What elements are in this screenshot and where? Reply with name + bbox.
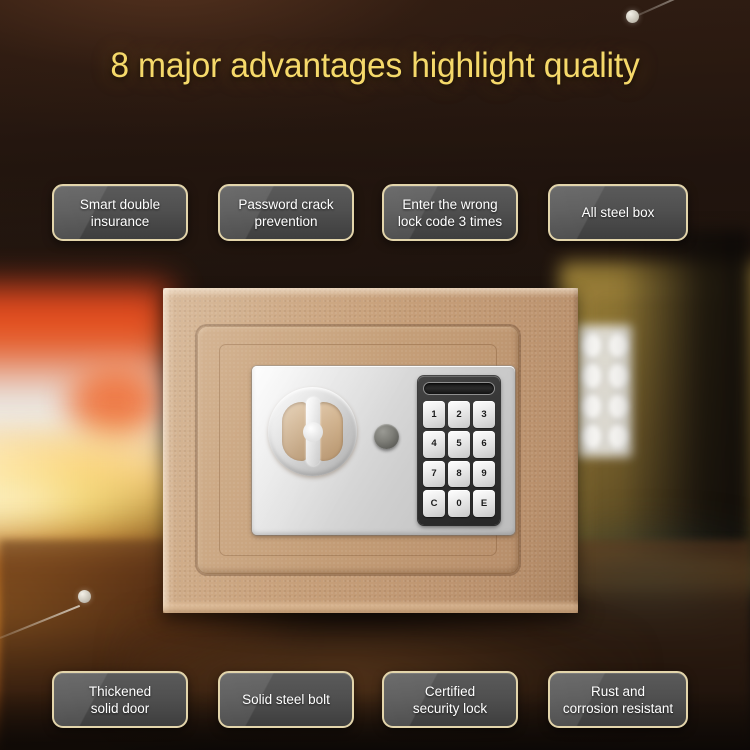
decor-dot-bottom-left: [78, 590, 91, 603]
safe-top-edge-highlight: [163, 288, 578, 297]
keypad-key-enter[interactable]: E: [473, 490, 495, 517]
product-banner: 8 major advantages highlight quality Sma…: [0, 0, 750, 750]
keypad-display-screen: [423, 382, 495, 395]
feature-badge-password-crack-prevention[interactable]: Password crack prevention: [218, 184, 354, 241]
feature-badge-label: Thickened solid door: [89, 683, 151, 717]
feature-badge-rust-corrosion-resistant[interactable]: Rust and corrosion resistant: [548, 671, 688, 728]
safe-bottom-edge: [163, 600, 578, 613]
keypad-key-4[interactable]: 4: [423, 431, 445, 458]
product-safe-box[interactable]: 1 2 3 4 5 6 7 8 9 C 0 E: [163, 288, 578, 613]
door-knob[interactable]: [374, 424, 399, 449]
decor-line-bottom-left: [0, 605, 80, 639]
keypad-key-clear[interactable]: C: [423, 490, 445, 517]
feature-badge-label: Certified security lock: [413, 683, 487, 717]
key-lock-icon[interactable]: [268, 387, 357, 476]
feature-badge-thickened-solid-door[interactable]: Thickened solid door: [52, 671, 188, 728]
safe-door-panel[interactable]: 1 2 3 4 5 6 7 8 9 C 0 E: [197, 326, 519, 574]
safe-left-edge-highlight: [163, 288, 175, 613]
feature-badge-label: All steel box: [582, 204, 655, 221]
feature-badge-all-steel-box[interactable]: All steel box: [548, 184, 688, 241]
lock-center-pin: [303, 422, 323, 442]
keypad-key-grid[interactable]: 1 2 3 4 5 6 7 8 9 C 0 E: [423, 401, 495, 517]
keypad-key-3[interactable]: 3: [473, 401, 495, 428]
feature-badge-solid-steel-bolt[interactable]: Solid steel bolt: [218, 671, 354, 728]
feature-badge-smart-double-insurance[interactable]: Smart double insurance: [52, 184, 188, 241]
keypad-key-7[interactable]: 7: [423, 461, 445, 488]
keypad-key-8[interactable]: 8: [448, 461, 470, 488]
keypad-key-1[interactable]: 1: [423, 401, 445, 428]
safe-control-plate: 1 2 3 4 5 6 7 8 9 C 0 E: [252, 366, 515, 535]
feature-badge-certified-security-lock[interactable]: Certified security lock: [382, 671, 518, 728]
keypad-key-2[interactable]: 2: [448, 401, 470, 428]
feature-badge-label: Rust and corrosion resistant: [563, 683, 673, 717]
feature-badge-label: Solid steel bolt: [242, 691, 330, 708]
keypad-key-6[interactable]: 6: [473, 431, 495, 458]
page-title: 8 major advantages highlight quality: [15, 46, 735, 86]
keypad-key-0[interactable]: 0: [448, 490, 470, 517]
feature-badge-enter-wrong-lock-code[interactable]: Enter the wrong lock code 3 times: [382, 184, 518, 241]
feature-badge-label: Smart double insurance: [80, 196, 160, 230]
digital-keypad[interactable]: 1 2 3 4 5 6 7 8 9 C 0 E: [418, 376, 500, 525]
keypad-key-5[interactable]: 5: [448, 431, 470, 458]
feature-badge-label: Password crack prevention: [238, 196, 333, 230]
feature-badge-label: Enter the wrong lock code 3 times: [398, 196, 502, 230]
keypad-key-9[interactable]: 9: [473, 461, 495, 488]
